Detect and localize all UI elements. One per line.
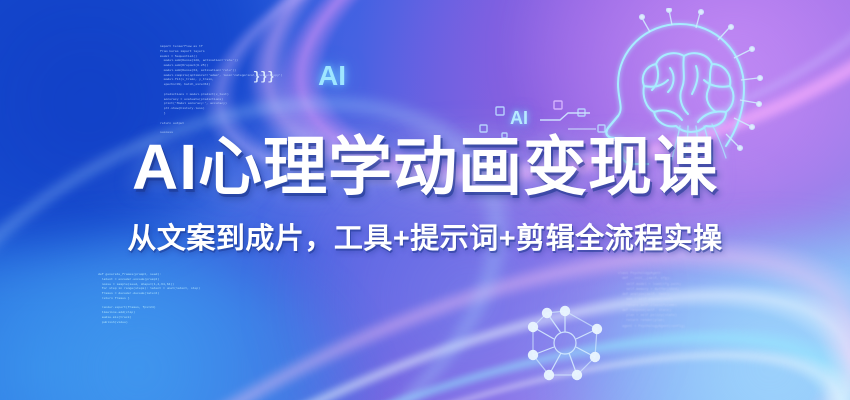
- ai-label-primary: AI: [318, 60, 346, 92]
- background-blob-bottom-left: [0, 250, 350, 400]
- neural-network-node-icon: [505, 295, 625, 390]
- headline-block: AI心理学动画变现课 从文案到成片，工具+提示词+剪辑全流程实操: [0, 135, 850, 257]
- decorative-code-bottom: def generate_frames(prompt, seed): laten…: [98, 272, 200, 325]
- decorative-code-right: class PsychologyAgent: def __init__(self…: [618, 272, 685, 330]
- code-braces-glyph: }}}: [253, 70, 275, 84]
- ai-course-promo-banner: import tensorflow as tf from keras impor…: [0, 0, 850, 400]
- page-title: AI心理学动画变现课: [0, 135, 850, 199]
- decorative-code-top: import tensorflow as tf from keras impor…: [160, 44, 283, 135]
- background-blob-bottom-right: [560, 250, 850, 400]
- page-subtitle: 从文案到成片，工具+提示词+剪辑全流程实操: [0, 215, 850, 257]
- ai-label-secondary: AI: [510, 108, 528, 129]
